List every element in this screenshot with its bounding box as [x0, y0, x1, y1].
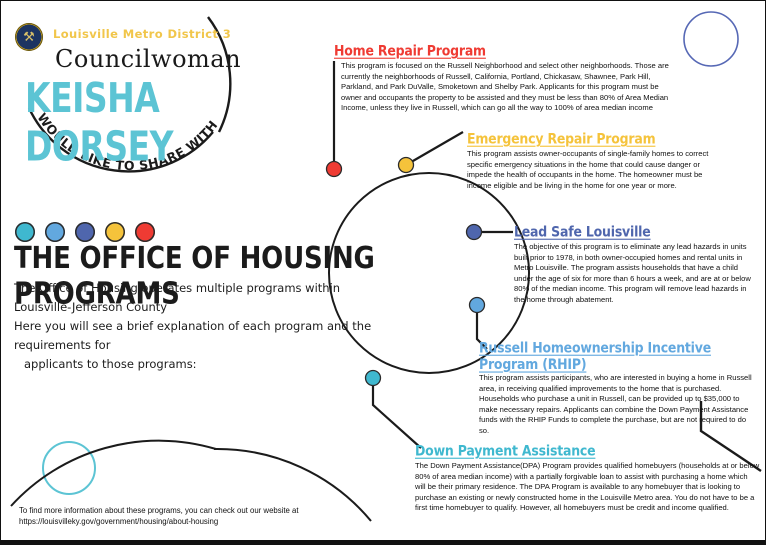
program-title-rhip[interactable]: Russell Homeownership Incentive Program … [479, 339, 756, 373]
node-dot-lead-safe[interactable] [467, 225, 482, 240]
councilwoman-header: ⚒ Louisville Metro District 3 Councilwom… [15, 15, 265, 135]
program-lead-safe-louisville: Lead Safe Louisville The objective of th… [514, 222, 756, 306]
dot-red [135, 222, 155, 242]
lede-line-2: Here you will see a brief explanation of… [14, 317, 374, 355]
role-label: Councilwoman [55, 45, 241, 73]
dot-yellow [105, 222, 125, 242]
program-title-lead-safe-louisville[interactable]: Lead Safe Louisville [514, 223, 651, 240]
dot-indigo [75, 222, 95, 242]
program-title-home-repair[interactable]: Home Repair Program [334, 42, 486, 59]
node-dot-emergency-repair[interactable] [399, 158, 414, 173]
decorative-ring-top-right [684, 12, 738, 66]
connector-down-payment-assistance [373, 378, 421, 448]
program-title-down-payment-assistance[interactable]: Down Payment Assistance [415, 442, 595, 459]
bottom-rule [1, 540, 766, 544]
footer-line-1: To find more information about these pro… [19, 505, 449, 516]
node-dot-home-repair[interactable] [327, 162, 342, 177]
district-label: Louisville Metro District 3 [53, 27, 231, 41]
program-home-repair: Home Repair Program This program is focu… [334, 41, 679, 114]
dot-light-blue [45, 222, 65, 242]
legend-dots-row [15, 222, 155, 242]
program-body-down-payment-assistance: The Down Payment Assistance(DPA) Program… [415, 461, 760, 514]
footer: To find more information about these pro… [19, 505, 449, 527]
fleur-de-lis-glyph: ⚒ [23, 30, 35, 43]
infographic-page: WOULD LIKE TO SHARE WITH YOU ⚒ [0, 0, 766, 545]
connector-emergency-repair [406, 132, 463, 165]
decorative-arc-bottom-left [11, 441, 216, 506]
lede-line-3: applicants to those programs: [14, 355, 374, 374]
program-body-lead-safe-louisville: The objective of this program is to elim… [514, 242, 756, 306]
lede-line-1: The Office of Housing operates multiple … [14, 279, 374, 317]
program-down-payment-assistance: Down Payment Assistance The Down Payment… [415, 441, 760, 514]
footer-url[interactable]: https://louisvilleky.gov/government/hous… [19, 516, 449, 527]
node-dot-rhip[interactable] [470, 298, 485, 313]
program-body-rhip: This program assists participants, who a… [479, 373, 756, 437]
louisville-metro-seal-icon: ⚒ [15, 23, 43, 51]
page-lede: The Office of Housing operates multiple … [14, 279, 374, 374]
councilwoman-name: KEISHA DORSEY [25, 73, 265, 171]
program-body-emergency-repair: This program assists owner-occupants of … [467, 149, 715, 191]
dot-teal [15, 222, 35, 242]
decorative-ring-bottom-left [43, 442, 95, 494]
program-title-emergency-repair[interactable]: Emergency Repair Program [467, 130, 655, 147]
program-emergency-repair: Emergency Repair Program This program as… [467, 129, 715, 191]
program-body-home-repair: This program is focused on the Russell N… [334, 61, 679, 114]
program-rhip: Russell Homeownership Incentive Program … [479, 339, 756, 437]
